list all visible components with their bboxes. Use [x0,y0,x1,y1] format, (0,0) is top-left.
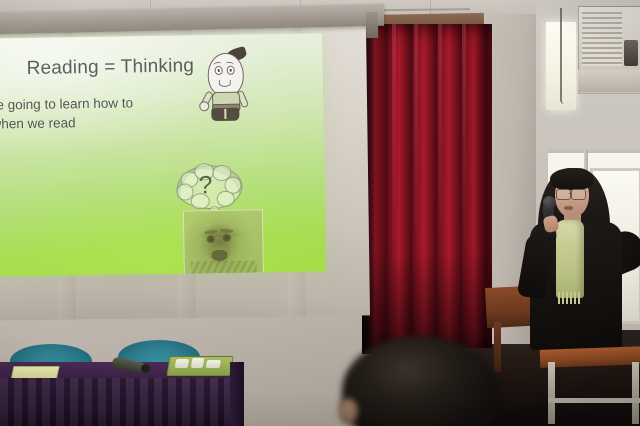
presenter-scarf [556,220,584,298]
cartoon-character-icon [198,48,255,121]
tray-item [175,359,190,368]
slide-body-line-2: nk when we read [0,112,184,134]
slide-body-text: e are going to learn how to nk when we r… [0,93,184,135]
classroom-presentation-photo: Reading = Thinking e are going to learn … [0,0,640,426]
monkey-eye [206,235,215,243]
monkey-eye [222,234,231,242]
desk-leg [548,362,555,424]
audience-member-ear [338,398,358,424]
cartoon-pupil [229,69,232,72]
window-mullion [548,150,640,153]
monkey-photo [183,209,264,276]
air-conditioner-vent [624,40,638,66]
serving-tray[interactable] [166,356,234,376]
thought-bubble-lobe [217,191,235,207]
cartoon-hand [199,101,209,111]
glasses-icon [571,189,586,200]
scarf-fringe [558,292,582,304]
presenter-mouth [564,206,573,210]
table-right-edge [230,362,244,426]
glasses-bridge [569,193,572,194]
tray-item [191,358,205,368]
air-conditioner-base [578,70,640,92]
table-microphone-tip [141,364,150,373]
slide-title: Reading = Thinking [26,55,194,80]
cartoon-leg-gap [224,109,226,119]
desk-leg [632,362,639,424]
question-mark: ? [198,171,212,200]
projected-slide: Reading = Thinking e are going to learn … [0,33,326,276]
tray-item [206,360,221,368]
power-cable [560,8,564,104]
desk-rail [548,398,640,403]
presenter-fringe [550,168,594,190]
cartoon-pupil [217,69,220,72]
screen-roller-cap [366,12,379,38]
glasses-icon [556,189,571,200]
presenter [500,160,640,370]
table-skirt [0,378,244,426]
air-conditioner-grille [582,12,622,66]
